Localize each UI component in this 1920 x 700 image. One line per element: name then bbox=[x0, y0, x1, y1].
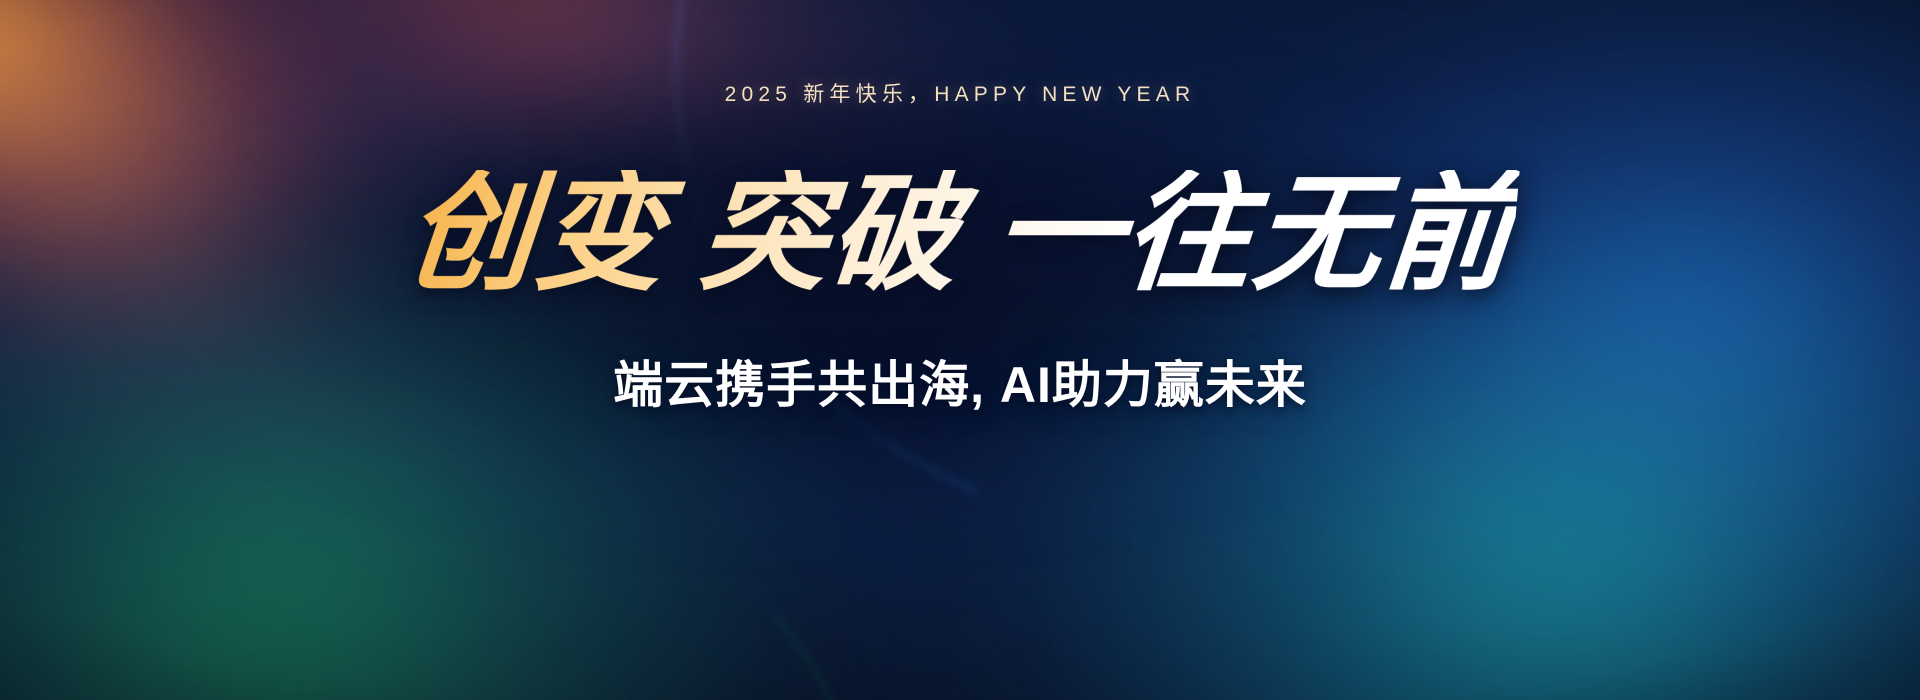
headline-segment-1: 创变 bbox=[400, 170, 671, 301]
headline: 创变突破一往无前 bbox=[400, 170, 1519, 301]
tagline-text: 端云携手共出海, AI助力赢未来 bbox=[613, 345, 1307, 417]
eyebrow-text: 2025 新年快乐，HAPPY NEW YEAR bbox=[725, 78, 1196, 108]
headline-segment-3: 一往无前 bbox=[988, 170, 1519, 301]
banner-content: 2025 新年快乐，HAPPY NEW YEAR 创变突破一往无前 端云携手共出… bbox=[0, 0, 1920, 700]
headline-segment-2: 突破 bbox=[694, 170, 965, 301]
new-year-banner: 2025 新年快乐，HAPPY NEW YEAR 创变突破一往无前 端云携手共出… bbox=[0, 0, 1920, 700]
